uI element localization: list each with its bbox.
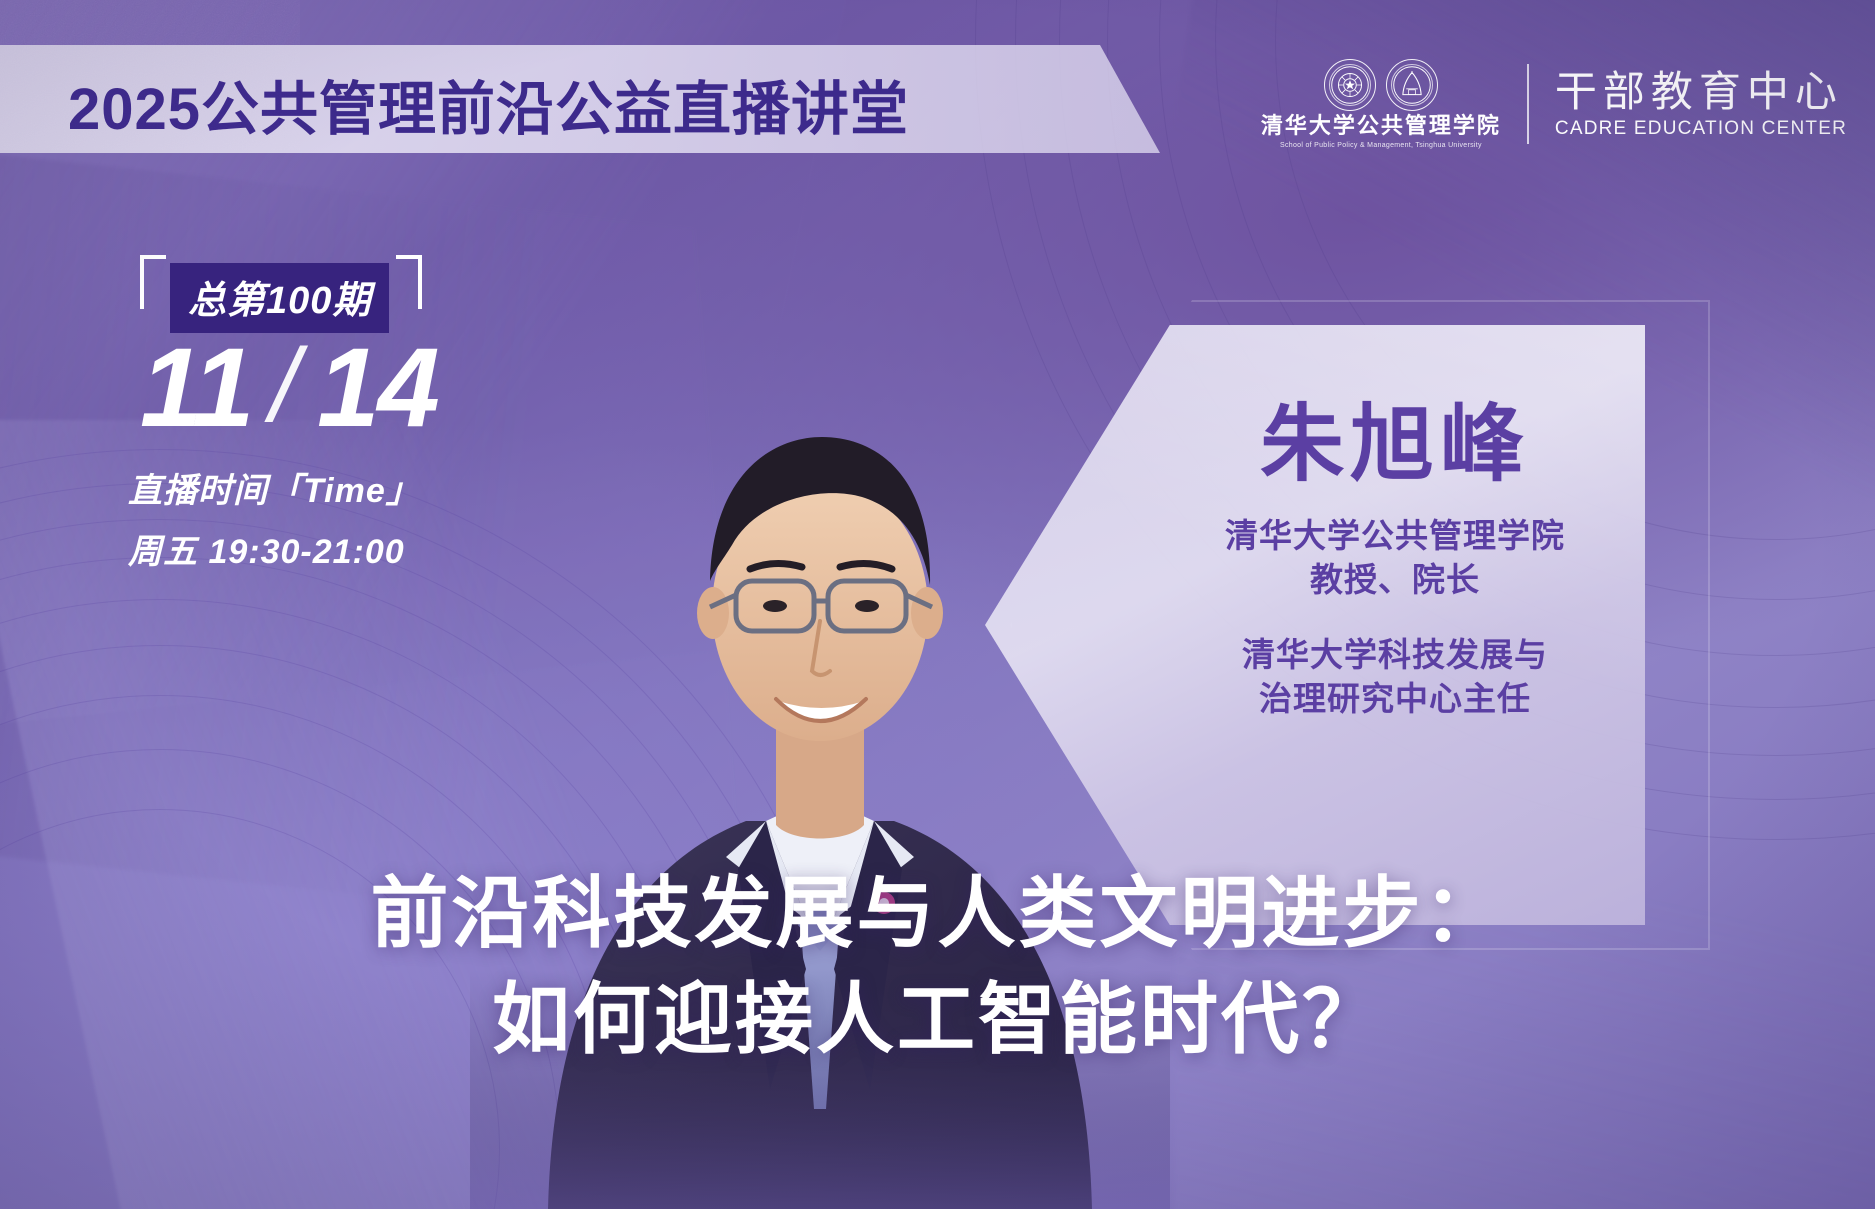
- school-logo: 清华大学公共管理学院 School of Public Policy & Man…: [1261, 59, 1501, 148]
- logo-divider: [1527, 64, 1529, 144]
- date-month: 11: [140, 335, 252, 441]
- sppm-school-seal-icon: [1386, 59, 1438, 111]
- live-lecture-poster: 2025公共管理前沿公益直播讲堂: [0, 0, 1875, 1209]
- date-separator-icon: /: [256, 337, 313, 442]
- lecture-title: 前沿科技发展与人类文明进步： 如何迎接人工智能时代？: [0, 860, 1875, 1072]
- school-name-en: School of Public Policy & Management, Ts…: [1280, 142, 1482, 149]
- logo-lockup: 清华大学公共管理学院 School of Public Policy & Man…: [1261, 50, 1847, 158]
- affiliation-line: 治理研究中心主任: [1160, 677, 1630, 721]
- emblem-group: [1324, 59, 1438, 111]
- lecture-title-line-1: 前沿科技发展与人类文明进步：: [0, 860, 1875, 966]
- affiliation-line: 清华大学科技发展与: [1160, 633, 1630, 677]
- affiliation-line: 教授、院长: [1160, 558, 1630, 602]
- speaker-affiliation-primary: 清华大学公共管理学院 教授、院长: [1160, 514, 1630, 602]
- school-name-cn: 清华大学公共管理学院: [1261, 114, 1501, 138]
- date-day: 14: [317, 335, 438, 441]
- issue-badge: 总第100期: [170, 263, 389, 333]
- speaker-name: 朱旭峰: [1160, 400, 1630, 488]
- lecture-title-line-2: 如何迎接人工智能时代？: [0, 966, 1875, 1072]
- bracket-right-icon: [396, 255, 422, 309]
- speaker-affiliation-secondary: 清华大学科技发展与 治理研究中心主任: [1160, 633, 1630, 721]
- speaker-info: 朱旭峰 清华大学公共管理学院 教授、院长 清华大学科技发展与 治理研究中心主任: [1160, 400, 1630, 721]
- bracket-left-icon: [140, 255, 166, 309]
- tsinghua-university-seal-icon: [1324, 59, 1376, 111]
- cadre-center-logo: 干部教育中心 CADRE EDUCATION CENTER: [1555, 71, 1847, 138]
- affiliation-line: 清华大学公共管理学院: [1160, 514, 1630, 558]
- center-name-cn: 干部教育中心: [1555, 71, 1847, 113]
- center-name-en: CADRE EDUCATION CENTER: [1555, 119, 1847, 138]
- page-title: 2025公共管理前沿公益直播讲堂: [68, 62, 909, 146]
